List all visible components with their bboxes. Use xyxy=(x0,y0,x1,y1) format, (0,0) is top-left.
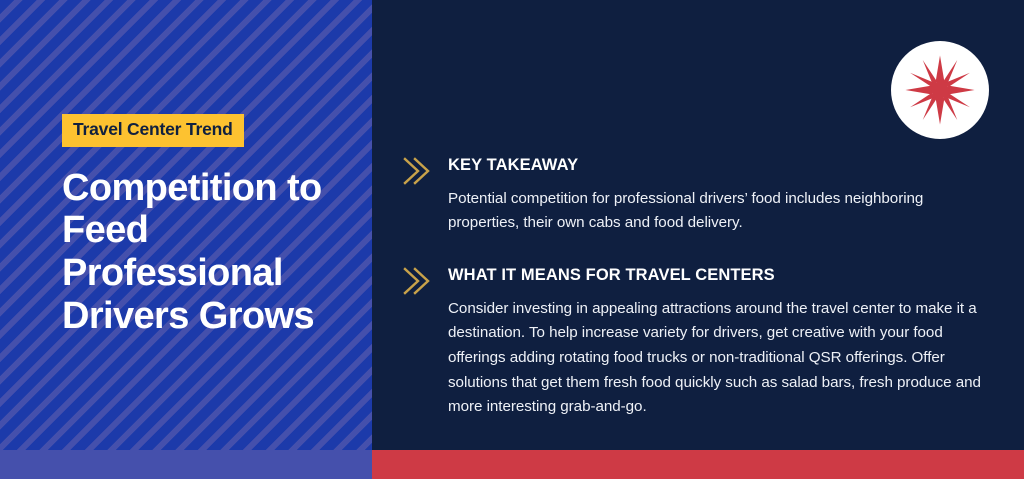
section-what-it-means: WHAT IT MEANS FOR TRAVEL CENTERS Conside… xyxy=(398,262,998,420)
left-striped-panel: Travel Center Trend Competition to Feed … xyxy=(0,0,372,479)
infographic-card: Travel Center Trend Competition to Feed … xyxy=(0,0,1024,479)
section-key-takeaway: KEY TAKEAWAY Potential competition for p… xyxy=(398,152,998,236)
double-chevron-right-icon xyxy=(398,154,432,188)
footer-bar-right xyxy=(372,450,1024,479)
trend-badge: Travel Center Trend xyxy=(62,114,244,147)
double-chevron-right-icon xyxy=(398,264,432,298)
footer-bar xyxy=(0,450,1024,479)
right-content-panel: KEY TAKEAWAY Potential competition for p… xyxy=(372,0,1024,479)
logo xyxy=(891,41,989,139)
section-title: WHAT IT MEANS FOR TRAVEL CENTERS xyxy=(448,262,998,286)
section-body: Consider investing in appealing attracti… xyxy=(448,297,993,420)
footer-bar-left xyxy=(0,450,372,479)
sections-list: KEY TAKEAWAY Potential competition for p… xyxy=(398,152,998,420)
starburst-icon xyxy=(904,54,976,126)
left-panel-content: Travel Center Trend Competition to Feed … xyxy=(62,114,362,338)
section-body: Potential competition for professional d… xyxy=(448,187,993,236)
page-title: Competition to Feed Professional Drivers… xyxy=(62,167,352,339)
section-title: KEY TAKEAWAY xyxy=(448,152,998,176)
